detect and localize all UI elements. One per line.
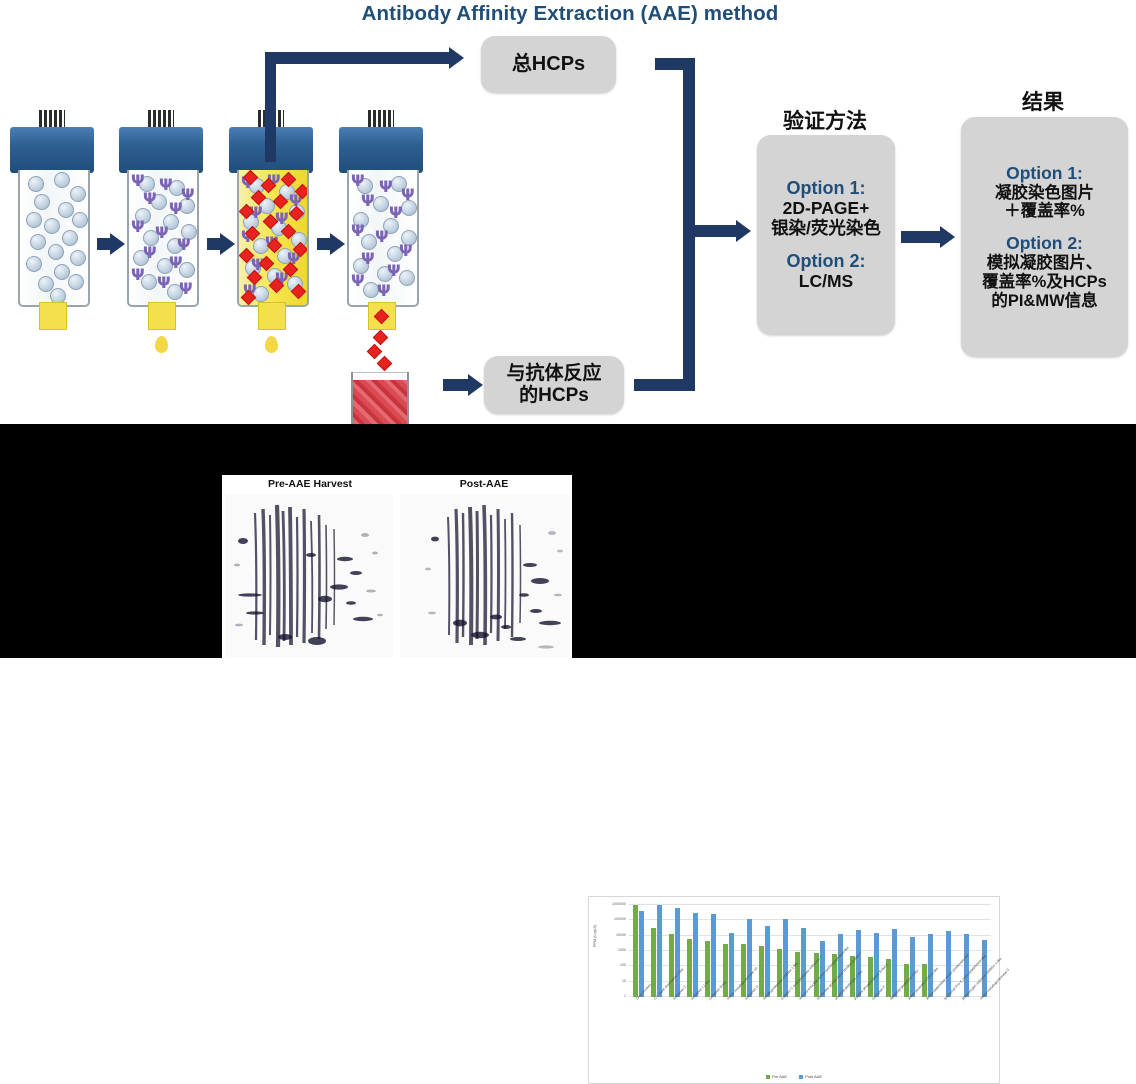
- chart-legend: Pre AAEPost AAE: [589, 1074, 999, 1079]
- antibody-icon: Ψ: [131, 266, 148, 283]
- chart-y-tick: 10000: [616, 933, 626, 937]
- result-option1-label: Option 1:: [1006, 164, 1083, 184]
- chart-legend-item: Post AAE: [799, 1074, 822, 1079]
- chart-bar-group: [683, 905, 701, 997]
- column-tube: Ψ Ψ Ψ Ψ Ψ Ψ Ψ Ψ Ψ Ψ Ψ Ψ Ψ: [127, 170, 199, 307]
- chart-y-tick: 10: [622, 979, 626, 983]
- antibody-icon: Ψ: [169, 200, 186, 217]
- reacted-hcps-label-line2: 的HCPs: [519, 385, 589, 407]
- chart-legend-swatch: [799, 1075, 803, 1079]
- hcp-icon: [377, 356, 393, 372]
- antibody-icon: Ψ: [351, 272, 368, 289]
- gel-pre-svg: [225, 495, 393, 658]
- chart-bar-group: [882, 905, 900, 997]
- column-frit-icon: [368, 110, 394, 128]
- chart-bar-pre-aae: [705, 941, 710, 997]
- column-elution: Ψ Ψ Ψ Ψ Ψ Ψ Ψ Ψ Ψ Ψ Ψ Ψ: [337, 110, 425, 325]
- column-tube: [18, 170, 90, 307]
- column-frit-icon: [39, 110, 65, 128]
- column-antibody-coupled: Ψ Ψ Ψ Ψ Ψ Ψ Ψ Ψ Ψ Ψ Ψ Ψ Ψ: [117, 110, 205, 325]
- gel-image-pre-aae: [225, 495, 393, 658]
- antibody-icon: Ψ: [401, 186, 418, 203]
- result-option1-line2: ＋覆盖率%: [1004, 202, 1085, 221]
- flowthrough-drop-icon: [265, 336, 278, 353]
- column-resin-beads: [8, 110, 96, 325]
- buffer-drop-icon: [155, 336, 168, 353]
- result-option1-line1: 凝胶染色图片: [995, 184, 1094, 203]
- chart-y-tick: 100000: [614, 917, 626, 921]
- gel-label-pre-aae: Pre-AAE Harvest: [224, 478, 396, 490]
- chart-bar-post-aae: [856, 930, 861, 997]
- column-outlet: [148, 302, 176, 330]
- antibody-icon: Ψ: [131, 172, 148, 189]
- chart-y-axis-label: PPM (Log10): [593, 925, 597, 947]
- verify-option2-line1: LC/MS: [799, 272, 853, 292]
- antibody-icon: Ψ: [379, 178, 396, 195]
- chart-bar-pre-aae: [651, 928, 656, 997]
- chart-bar-pre-aae: [741, 944, 746, 997]
- antibody-icon: Ψ: [351, 222, 368, 239]
- total-hcps-label: 总HCPs: [512, 53, 585, 76]
- antibody-icon: Ψ: [387, 262, 404, 279]
- antibody-icon: Ψ: [169, 254, 186, 271]
- result-heading: 结果: [963, 86, 1123, 116]
- results-figures-panel: Pre-AAE Harvest Post-AAE: [0, 424, 1136, 658]
- column-cap: [339, 127, 423, 173]
- chart-bar-post-aae: [874, 933, 879, 997]
- result-option2-line2: 覆盖率%及HCPs: [982, 273, 1107, 292]
- chart-bar-post-aae: [639, 911, 644, 997]
- verify-option1-line2: 银染/荧光染色: [771, 219, 881, 239]
- antibody-icon: Ψ: [389, 204, 406, 221]
- hcp-icon: [373, 330, 389, 346]
- antibody-icon: Ψ: [131, 218, 148, 235]
- chart-legend-item: Pre AAE: [766, 1074, 787, 1079]
- antibody-icon: Ψ: [179, 280, 196, 297]
- chart-bar-pre-aae: [687, 939, 692, 997]
- beaker-hcp-contents: [353, 380, 407, 430]
- antibody-icon: Ψ: [157, 274, 174, 291]
- verification-methods-box[interactable]: Option 1: 2D-PAGE+ 银染/荧光染色 Option 2: LC/…: [757, 135, 895, 335]
- verification-heading: 验证方法: [745, 105, 905, 135]
- column-outlet: [258, 302, 286, 330]
- results-box[interactable]: Option 1: 凝胶染色图片 ＋覆盖率% Option 2: 模拟凝胶图片、…: [961, 117, 1128, 357]
- antibody-icon: Ψ: [377, 282, 394, 299]
- chart-bar-post-aae: [711, 914, 716, 997]
- chart-legend-label: Post AAE: [805, 1074, 822, 1079]
- chart-bar-pre-aae: [723, 944, 728, 997]
- chart-y-tick: 1000000: [612, 902, 626, 906]
- antibody-icon: Ψ: [159, 176, 176, 193]
- column-cap: [119, 127, 203, 173]
- column-outlet: [368, 302, 396, 330]
- aae-diagram-panel: Antibody Affinity Extraction (AAE) metho…: [0, 0, 1136, 424]
- hcp-icon: [374, 309, 390, 325]
- reacted-hcps-label-line1: 与抗体反应: [506, 363, 601, 385]
- antibody-icon: Ψ: [351, 172, 368, 189]
- result-option2-line3: 的PI&MW信息: [991, 292, 1097, 311]
- column-contents: [20, 170, 88, 305]
- chart-bar-post-aae: [657, 905, 662, 997]
- column-frit-icon: [148, 110, 174, 128]
- chart-y-tick: 1: [624, 994, 626, 998]
- column-tube: Ψ Ψ Ψ Ψ Ψ Ψ Ψ Ψ Ψ Ψ Ψ: [237, 170, 309, 307]
- chart-bar-post-aae: [892, 929, 897, 997]
- chart-y-tick: 100: [620, 963, 626, 967]
- chart-bar-post-aae: [693, 913, 698, 997]
- total-hcps-box[interactable]: 总HCPs: [481, 36, 616, 93]
- chart-bar-group: [629, 905, 647, 997]
- antibody-icon: Ψ: [177, 236, 194, 253]
- verify-option1-label: Option 1:: [787, 178, 866, 199]
- verify-option1-line1: 2D-PAGE+: [783, 199, 870, 219]
- antibody-icon: Ψ: [399, 242, 416, 259]
- chart-bar-pre-aae: [633, 905, 638, 997]
- chart-bar-post-aae: [928, 934, 933, 997]
- collection-beaker: [351, 372, 409, 432]
- reacted-hcps-box[interactable]: 与抗体反应 的HCPs: [484, 356, 624, 414]
- 2d-gel-figure: Pre-AAE Harvest Post-AAE: [222, 475, 572, 658]
- chart-bar-pre-aae: [759, 946, 764, 997]
- antibody-icon: Ψ: [361, 250, 378, 267]
- column-contents: Ψ Ψ Ψ Ψ Ψ Ψ Ψ Ψ Ψ Ψ Ψ Ψ Ψ: [129, 170, 197, 305]
- ppm-bar-chart: PPM (Log10) 1000000100000100001000100101…: [588, 896, 1000, 1084]
- chart-legend-label: Pre AAE: [772, 1074, 787, 1079]
- chart-legend-swatch: [766, 1075, 770, 1079]
- antibody-icon: Ψ: [361, 192, 378, 209]
- chart-bar-post-aae: [946, 931, 951, 997]
- chart-bar-post-aae: [765, 926, 770, 997]
- antibody-icon: Ψ: [155, 224, 172, 241]
- verify-option2-label: Option 2:: [787, 251, 866, 272]
- hcp-icon: [367, 344, 383, 360]
- column-contents: Ψ Ψ Ψ Ψ Ψ Ψ Ψ Ψ Ψ Ψ Ψ Ψ: [349, 170, 417, 305]
- chart-y-tick: 1000: [618, 948, 626, 952]
- chart-bar-group: [756, 905, 774, 997]
- result-option2-line1: 模拟凝胶图片、: [987, 254, 1103, 273]
- chart-bar-post-aae: [801, 928, 806, 997]
- chart-bar-post-aae: [747, 919, 752, 997]
- chart-bar-pre-aae: [777, 949, 782, 997]
- chart-bar-post-aae: [675, 908, 680, 997]
- column-outlet: [39, 302, 67, 330]
- gel-post-svg: [400, 495, 570, 658]
- page-title: Antibody Affinity Extraction (AAE) metho…: [285, 2, 855, 26]
- antibody-icon: Ψ: [375, 228, 392, 245]
- antibody-icon: Ψ: [143, 190, 160, 207]
- result-option2-label: Option 2:: [1006, 234, 1083, 254]
- antibody-icon: Ψ: [143, 244, 160, 261]
- gel-label-post-aae: Post-AAE: [398, 478, 570, 490]
- chart-bar-post-aae: [729, 933, 734, 997]
- chart-bar-post-aae: [910, 937, 915, 997]
- beaker-lip: [351, 372, 408, 373]
- column-cap: [10, 127, 94, 173]
- chart-bar-pre-aae: [669, 934, 674, 997]
- chart-bar-post-aae: [964, 934, 969, 997]
- column-contents: Ψ Ψ Ψ Ψ Ψ Ψ Ψ Ψ Ψ Ψ Ψ: [239, 170, 307, 305]
- column-tube: Ψ Ψ Ψ Ψ Ψ Ψ Ψ Ψ Ψ Ψ Ψ Ψ: [347, 170, 419, 307]
- chart-bar-pre-aae: [795, 952, 800, 997]
- chart-bar-post-aae: [783, 919, 788, 997]
- gel-image-post-aae: [400, 495, 570, 658]
